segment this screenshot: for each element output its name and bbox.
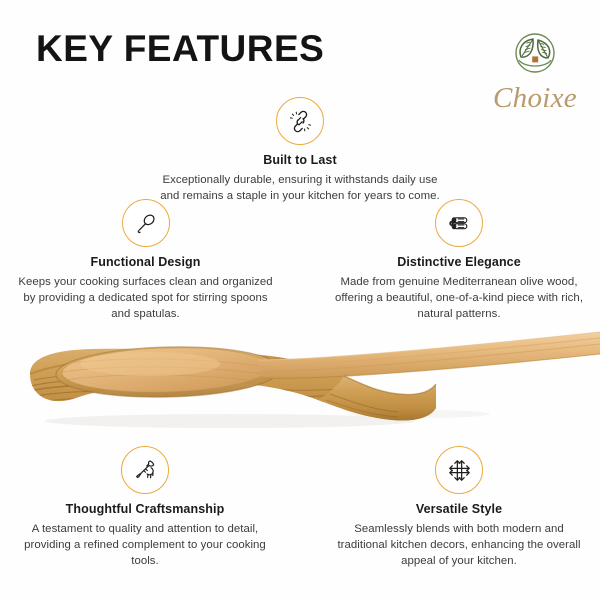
feature-built-to-last: Built to Last Exceptionally durable, ens… [155,97,445,204]
four-way-arrows-icon [435,446,483,494]
feature-description: Keeps your cooking surfaces clean and or… [18,274,273,323]
feature-title: Functional Design [18,255,273,271]
hand-carving-chisel-icon [121,446,169,494]
feature-description: Made from genuine Mediterranean olive wo… [330,274,588,323]
spoon-icon [122,199,170,247]
olive-leaves-circle-icon [507,27,563,83]
chain-link-icon [276,97,324,145]
wood-logs-icon [435,199,483,247]
feature-versatile-style: Versatile Style Seamlessly blends with b… [330,446,588,569]
feature-title: Thoughtful Craftsmanship [16,502,274,518]
feature-functional-design: Functional Design Keeps your cooking sur… [18,199,273,322]
infographic-page: KEY FEATURES Choixe [0,0,600,600]
feature-title: Versatile Style [330,502,588,518]
brand-wordmark: Choixe [480,84,590,113]
feature-title: Built to Last [155,153,445,169]
brand-logo: Choixe [480,27,590,113]
feature-title: Distinctive Elegance [330,255,588,271]
feature-thoughtful-craftsmanship: Thoughtful Craftsmanship A testament to … [16,446,274,569]
product-photo-olive-wood-spoon-rest [0,322,600,437]
feature-description: Seamlessly blends with both modern and t… [330,521,588,570]
page-title: KEY FEATURES [36,30,324,67]
header-accent-rule [37,79,332,84]
feature-description: A testament to quality and attention to … [16,521,274,570]
feature-distinctive-elegance: Distinctive Elegance Made from genuine M… [330,199,588,322]
